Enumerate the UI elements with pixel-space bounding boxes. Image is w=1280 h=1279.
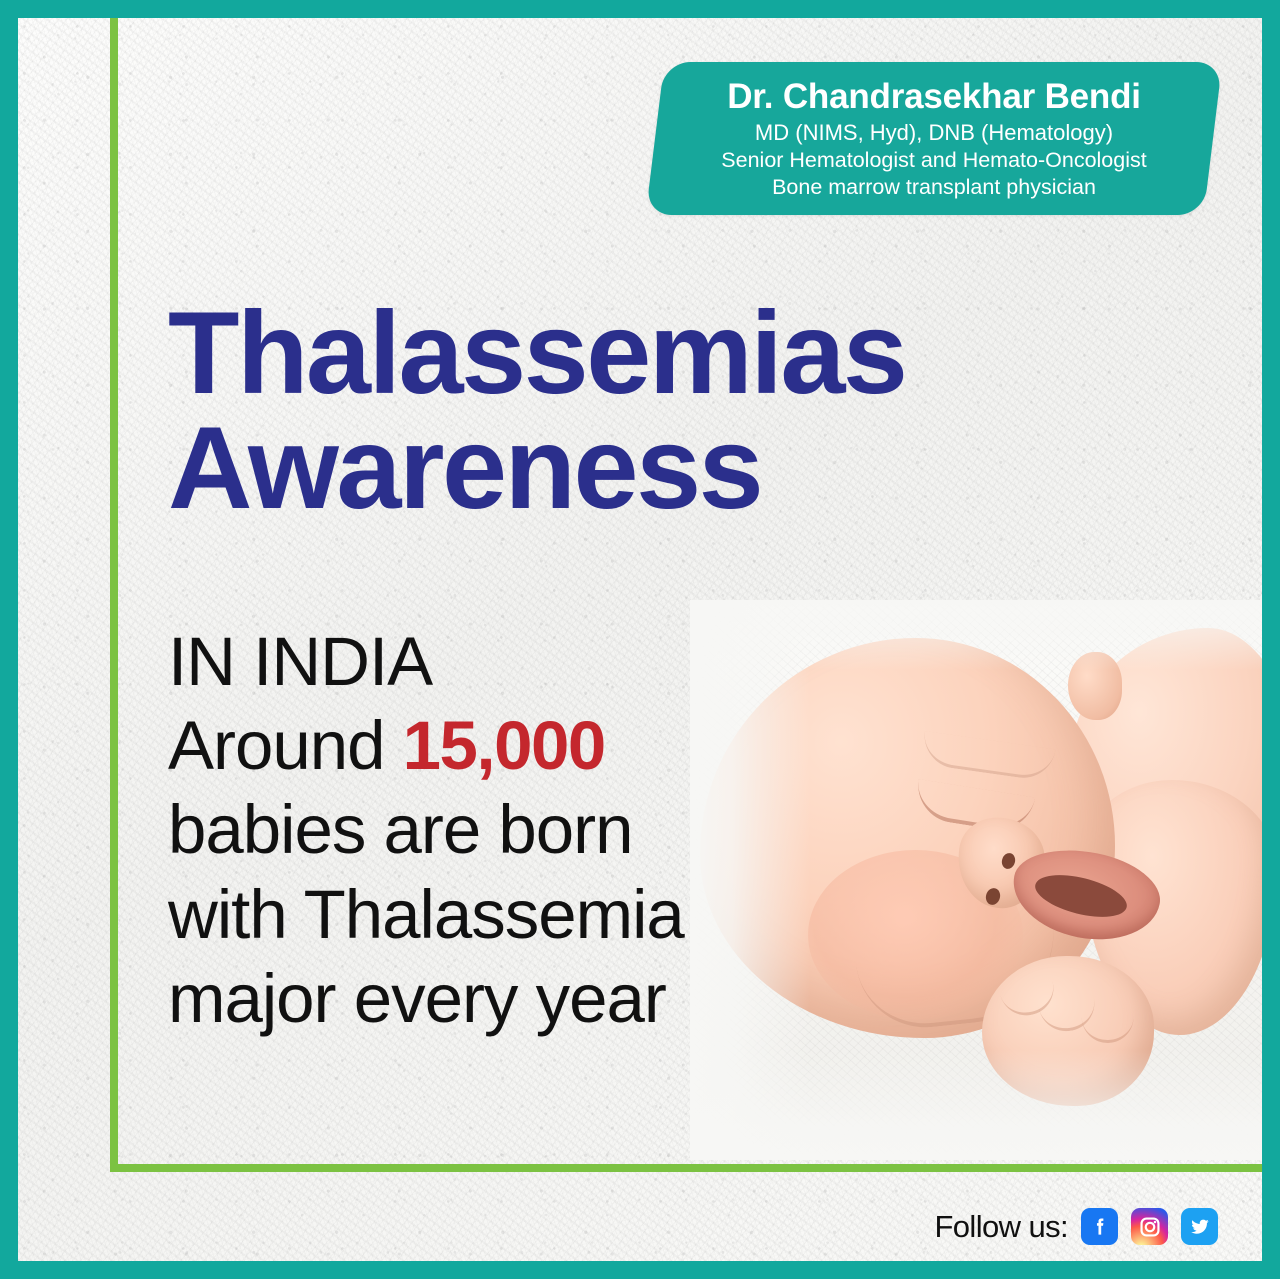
green-vertical-rule — [110, 18, 118, 1170]
twitter-icon[interactable] — [1181, 1208, 1218, 1245]
doctor-credential-badge: Dr. Chandrasekhar Bendi MD (NIMS, Hyd), … — [646, 62, 1223, 215]
instagram-icon[interactable] — [1131, 1208, 1168, 1245]
body-line-babies-born: babies are born — [168, 788, 788, 872]
poster-canvas: Dr. Chandrasekhar Bendi MD (NIMS, Hyd), … — [0, 0, 1280, 1279]
poster-headline: Thalassemias Awareness — [168, 296, 905, 525]
doctor-credential-badge-content: Dr. Chandrasekhar Bendi MD (NIMS, Hyd), … — [655, 62, 1213, 215]
headline-line-two: Awareness — [168, 411, 905, 526]
headline-line-one: Thalassemias — [168, 287, 905, 418]
photo-fade-bottom — [690, 1050, 1262, 1160]
follow-us-bar: Follow us: — [934, 1208, 1218, 1245]
green-horizontal-rule — [110, 1164, 1262, 1172]
doctor-name: Dr. Chandrasekhar Bendi — [727, 77, 1141, 116]
body-line-with-thalassemia: with Thalassemia — [168, 873, 788, 957]
doctor-role-primary: Senior Hematologist and Hemato-Oncologis… — [721, 147, 1146, 173]
statistic-body-copy: IN INDIA Around 15,000 babies are born w… — [168, 620, 788, 1041]
statistic-number: 15,000 — [403, 707, 605, 784]
body-around-prefix: Around — [168, 707, 403, 784]
facebook-icon[interactable] — [1081, 1208, 1118, 1245]
body-line-around-number: Around 15,000 — [168, 704, 788, 788]
doctor-degrees: MD (NIMS, Hyd), DNB (Hematology) — [755, 119, 1113, 147]
follow-us-label: Follow us: — [934, 1209, 1068, 1245]
body-line-in-india: IN INDIA — [168, 620, 788, 704]
doctor-role-secondary: Bone marrow transplant physician — [772, 174, 1096, 200]
body-line-major-every-year: major every year — [168, 957, 788, 1041]
